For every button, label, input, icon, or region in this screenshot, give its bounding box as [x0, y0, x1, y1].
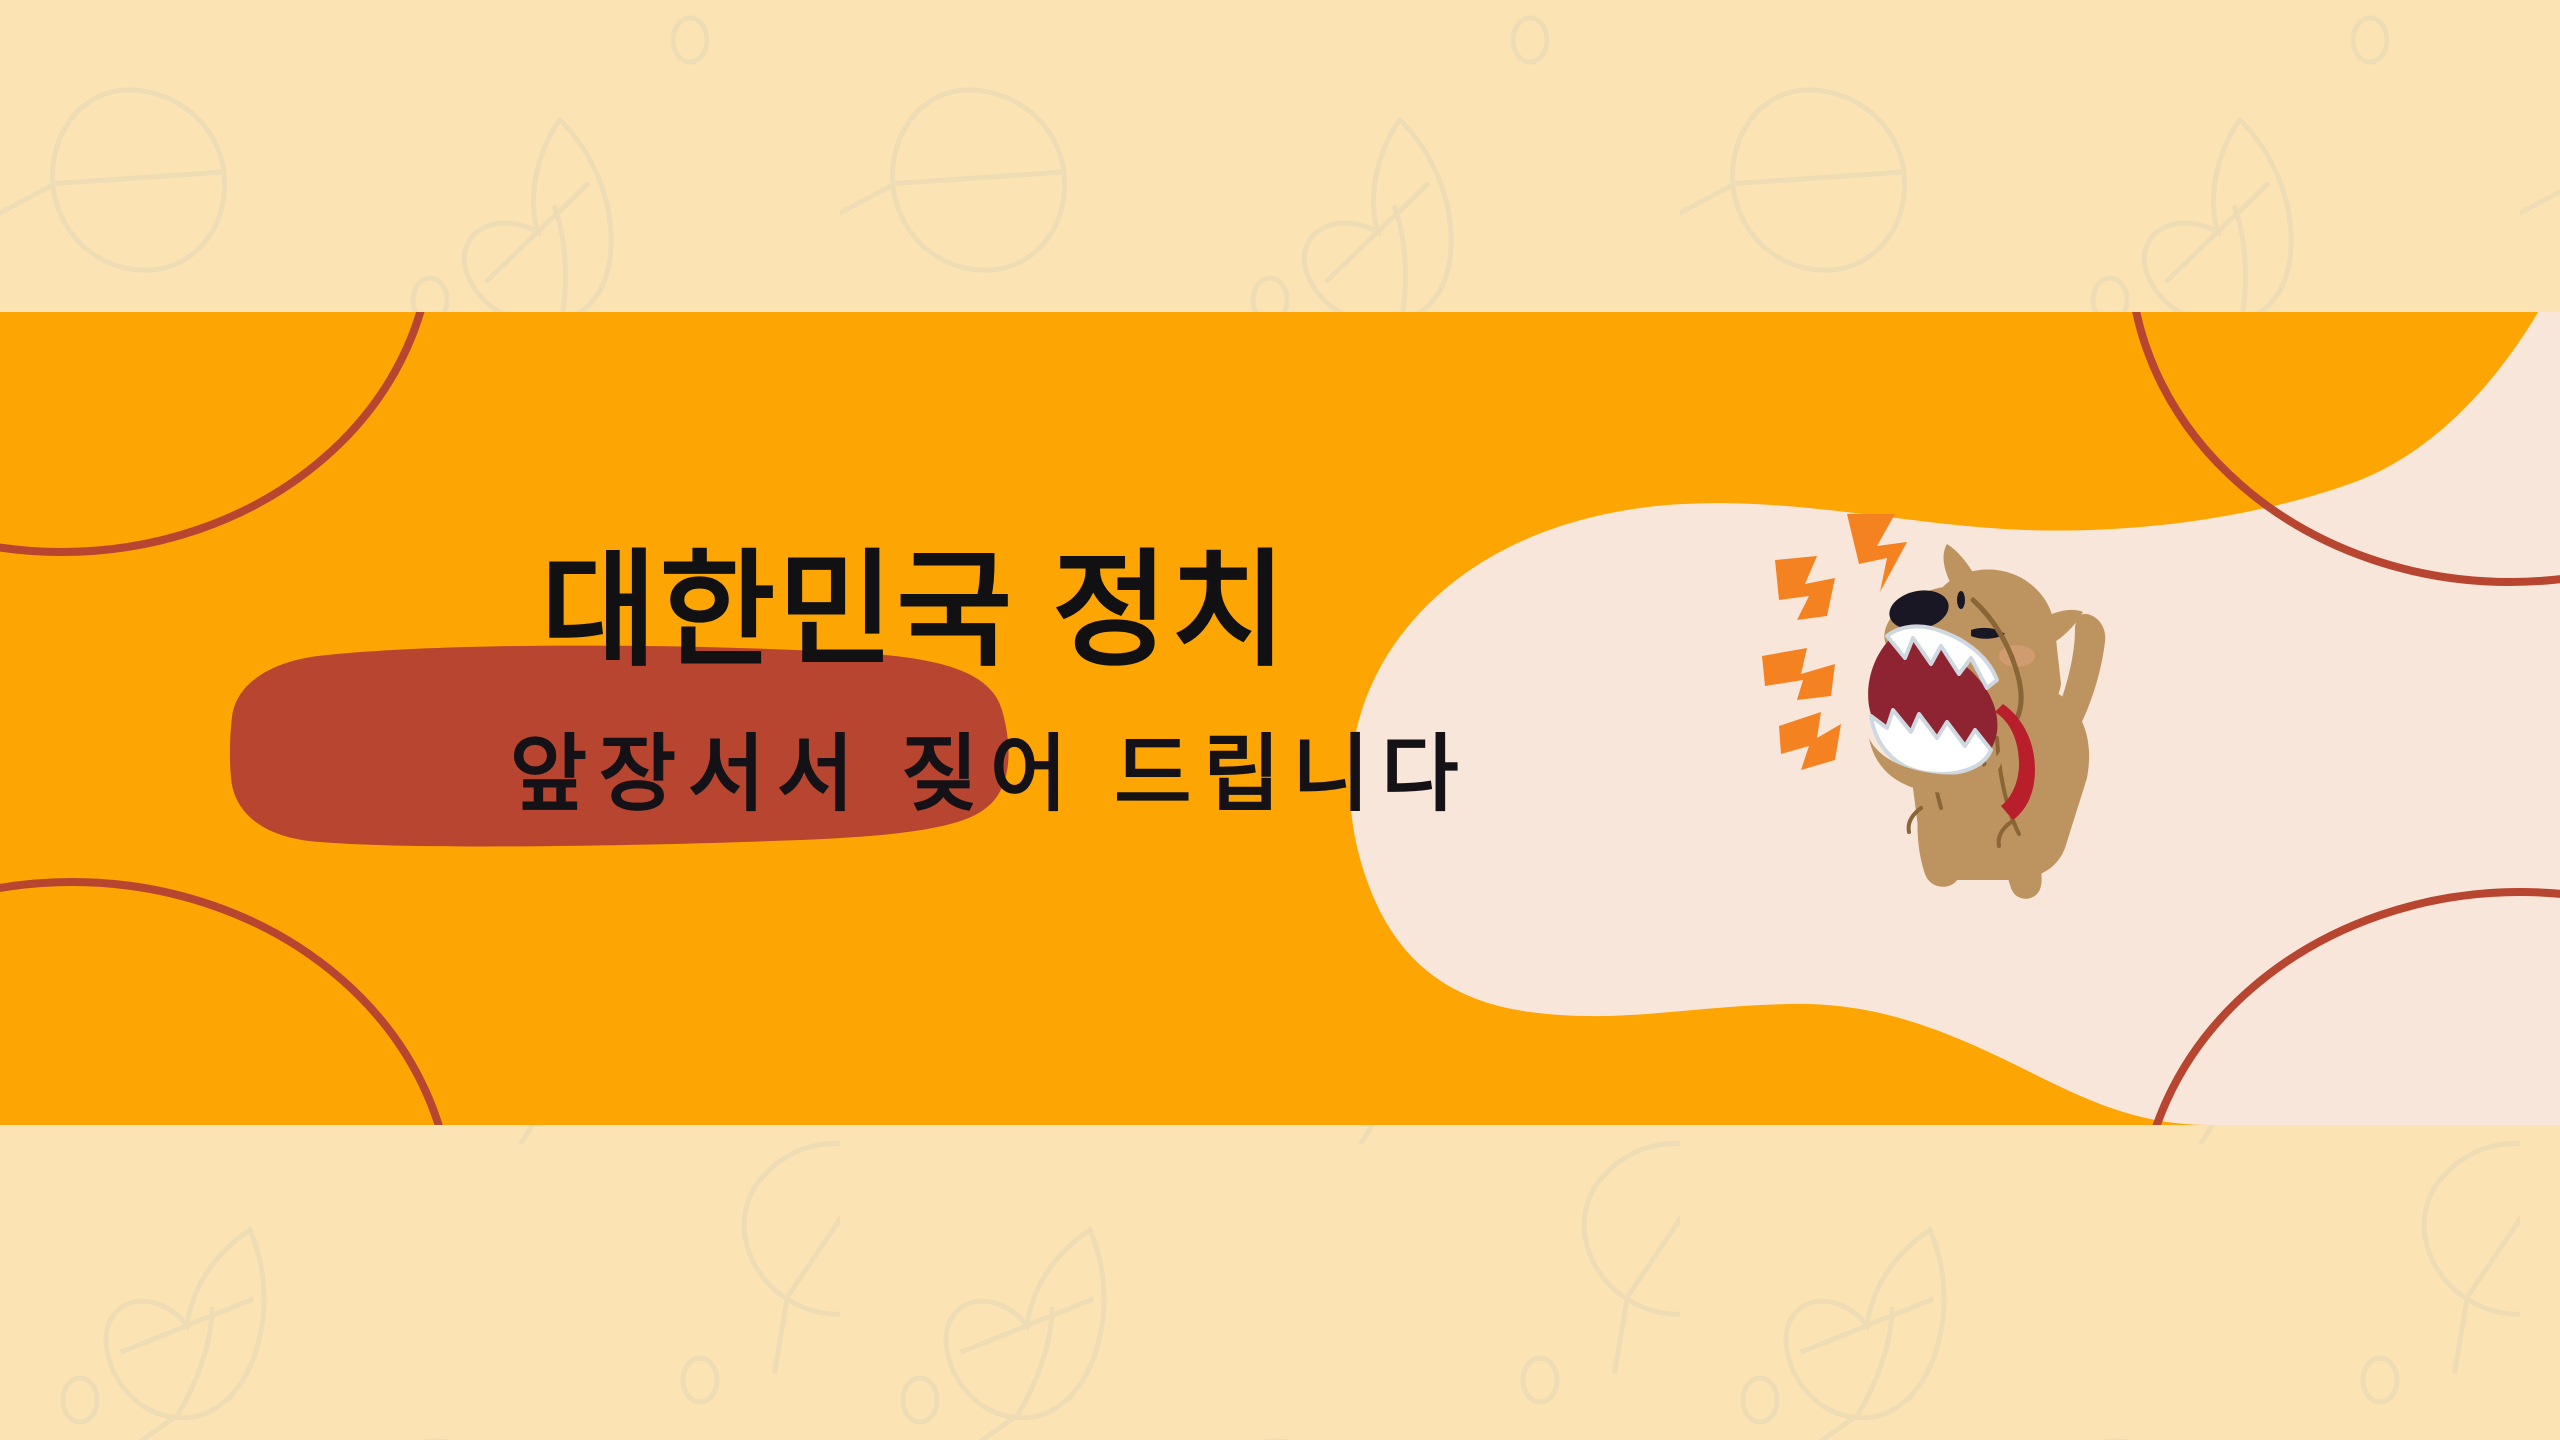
dog-eyebrow: [1957, 591, 1965, 609]
barking-dog-svg: [1735, 488, 2135, 908]
page-subtitle: 앞장서서 짖어 드립니다: [0, 732, 1980, 816]
dog-ear-left: [1944, 544, 1977, 584]
orange-banner: [0, 312, 2560, 1125]
barking-dog-illustration: [1735, 488, 2135, 908]
dog-cheek-blush: [1999, 645, 2035, 667]
page-title: 대한민국 정치: [0, 548, 1830, 674]
banner-decorations: [0, 312, 2560, 1125]
